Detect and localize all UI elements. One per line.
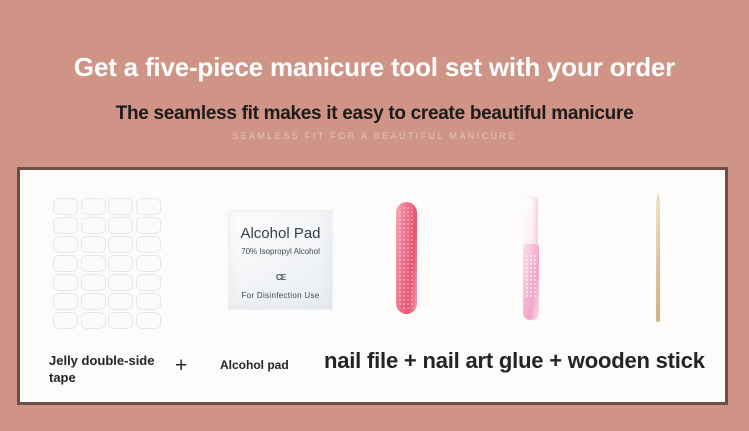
tape-row [53, 198, 161, 215]
caption-tools-group: nail file + nail art glue + wooden stick [324, 348, 705, 374]
alcohol-pad-usage: For Disinfection Use [229, 291, 332, 300]
ce-mark-icon: CE [229, 273, 332, 282]
promo-subtitle: The seamless fit makes it easy to create… [0, 103, 749, 125]
tape-cell [108, 236, 133, 253]
tape-cell [81, 274, 106, 291]
caption-alcohol-pad: Alcohol pad [220, 358, 289, 372]
promo-tagline: SEAMLESS FIT FOR A BEAUTIFUL MANICURE [0, 131, 749, 141]
nail-file-image [396, 202, 417, 314]
tape-cell [108, 293, 133, 310]
tape-cell [53, 255, 78, 272]
tape-cell [53, 274, 78, 291]
alcohol-pad-package-image: Alcohol Pad 70% Isopropyl Alcohol CE For… [228, 210, 333, 310]
tape-cell [81, 255, 106, 272]
nail-art-glue-image [523, 196, 539, 320]
wooden-stick-image [654, 192, 662, 322]
tape-cell [108, 198, 133, 215]
tape-row [53, 255, 161, 272]
tape-cell [81, 198, 106, 215]
tape-cell [53, 293, 78, 310]
tape-row [53, 274, 161, 291]
caption-plus-separator: + [175, 354, 187, 378]
tape-cell [81, 293, 106, 310]
tape-cell [136, 217, 161, 234]
tape-cell [53, 236, 78, 253]
tape-cell [108, 255, 133, 272]
tape-cell [136, 312, 161, 329]
tape-cell [136, 198, 161, 215]
tape-cell [53, 198, 78, 215]
tape-cell [108, 274, 133, 291]
tape-row [53, 236, 161, 253]
nail-file-grain [398, 206, 415, 310]
tape-cell [108, 312, 133, 329]
product-image-row: Alcohol Pad 70% Isopropyl Alcohol CE For… [20, 170, 725, 345]
jelly-double-side-tape-image [53, 198, 161, 316]
product-caption-row: Jelly double-side tape + Alcohol pad nai… [20, 346, 725, 402]
tape-cell [81, 217, 106, 234]
tape-cell [108, 217, 133, 234]
promo-headline: Get a five-piece manicure tool set with … [0, 52, 749, 83]
tape-cell [53, 217, 78, 234]
alcohol-pad-title: Alcohol Pad [229, 225, 332, 242]
product-panel: Alcohol Pad 70% Isopropyl Alcohol CE For… [17, 167, 728, 405]
tape-cell [53, 312, 78, 329]
tape-cell [136, 274, 161, 291]
tape-cell [81, 312, 106, 329]
tape-row [53, 312, 161, 329]
alcohol-pad-concentration: 70% Isopropyl Alcohol [229, 247, 332, 256]
wooden-stick-shaft [656, 202, 660, 322]
tape-cell [136, 236, 161, 253]
tape-row [53, 217, 161, 234]
glue-cap [524, 196, 538, 248]
glue-body [523, 244, 539, 320]
tape-cell [136, 255, 161, 272]
tape-row [53, 293, 161, 310]
tape-cell [81, 236, 106, 253]
tape-cell [136, 293, 161, 310]
caption-jelly-tape: Jelly double-side tape [49, 352, 161, 386]
